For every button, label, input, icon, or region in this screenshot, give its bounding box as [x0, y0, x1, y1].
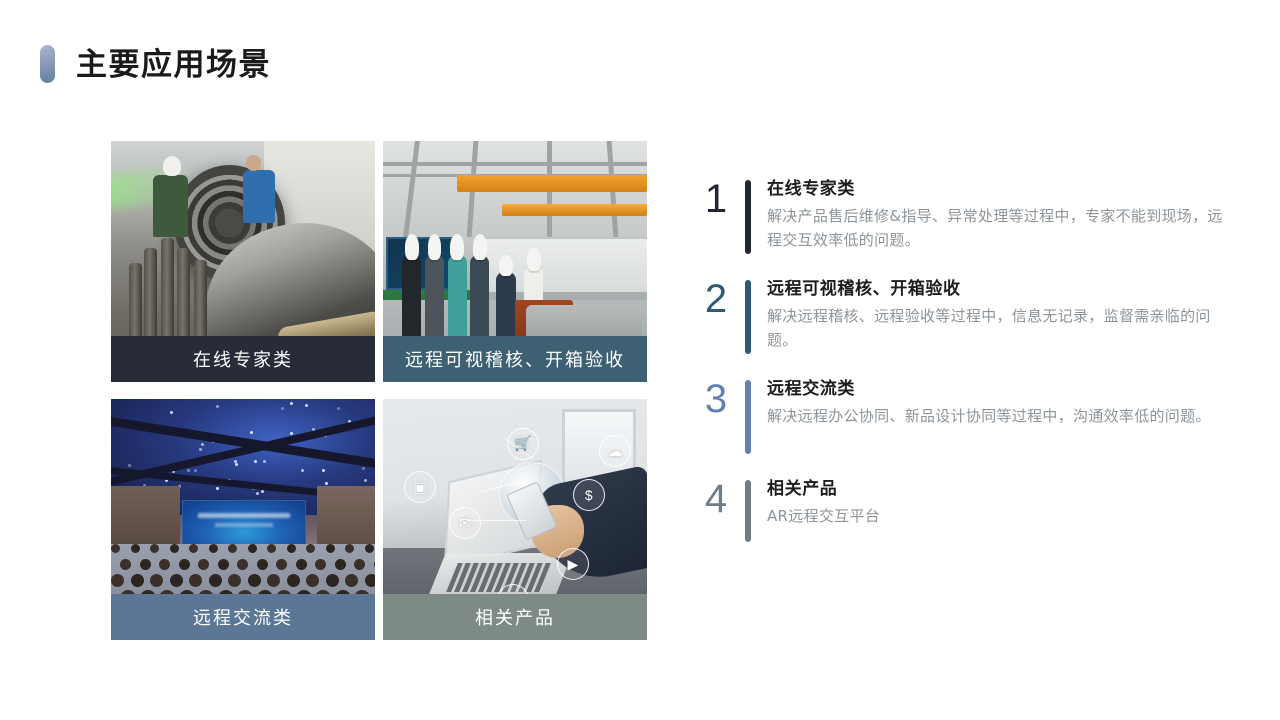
list-item-description: 解决产品售后维修&指导、异常处理等过程中，专家不能到现场，远程交互效率低的问题。: [767, 204, 1233, 253]
list-item-description: 解决远程办公协同、新品设计协同等过程中，沟通效率低的问题。: [767, 404, 1233, 428]
list-item[interactable]: 3 远程交流类 解决远程办公协同、新品设计协同等过程中，沟通效率低的问题。: [693, 376, 1233, 454]
list-item-title: 远程可视稽核、开箱验收: [767, 277, 1233, 302]
list-item-number: 3: [693, 376, 739, 422]
scenario-card-online-expert[interactable]: 在线专家类: [111, 141, 375, 382]
scenario-card-grid: 在线专家类 远程可视稽核、开箱验收: [111, 141, 647, 640]
card-caption: 远程交流类: [111, 594, 375, 640]
list-item-number: 1: [693, 176, 739, 222]
list-item[interactable]: 1 在线专家类 解决产品售后维修&指导、异常处理等过程中，专家不能到现场，远程交…: [693, 176, 1233, 254]
scenario-card-remote-audit[interactable]: 远程可视稽核、开箱验收: [383, 141, 647, 382]
list-item-accent-bar: [745, 480, 751, 542]
device-icon: ▣: [404, 471, 436, 503]
list-item-title: 在线专家类: [767, 177, 1233, 202]
list-item-accent-bar: [745, 280, 751, 354]
list-item-accent-bar: [745, 380, 751, 454]
scenario-card-remote-communication[interactable]: 远程交流类: [111, 399, 375, 640]
list-item-description: 解决远程稽核、远程验收等过程中，信息无记录，监督需亲临的问题。: [767, 304, 1233, 353]
cart-icon: 🛒: [507, 428, 539, 460]
list-item-title: 相关产品: [767, 477, 1233, 502]
dollar-icon: $: [573, 479, 605, 511]
scenario-card-related-product[interactable]: 🛒 ▣ ✉ ☁ $ ▶ ▭ 相关产品: [383, 399, 647, 640]
list-item[interactable]: 2 远程可视稽核、开箱验收 解决远程稽核、远程验收等过程中，信息无记录，监督需亲…: [693, 276, 1233, 354]
page-title: 主要应用场景: [76, 49, 271, 80]
pill-bullet-icon: [40, 45, 55, 83]
list-item-title: 远程交流类: [767, 377, 1233, 402]
slide-header: 主要应用场景: [40, 40, 271, 88]
list-item-description: AR远程交互平台: [767, 504, 1233, 528]
list-item-number: 4: [693, 476, 739, 522]
card-caption: 远程可视稽核、开箱验收: [383, 336, 647, 382]
card-caption: 在线专家类: [111, 336, 375, 382]
list-item-number: 2: [693, 276, 739, 322]
list-item[interactable]: 4 相关产品 AR远程交互平台: [693, 476, 1233, 542]
scenario-list: 1 在线专家类 解决产品售后维修&指导、异常处理等过程中，专家不能到现场，远程交…: [693, 176, 1233, 564]
card-caption: 相关产品: [383, 594, 647, 640]
list-item-accent-bar: [745, 180, 751, 254]
